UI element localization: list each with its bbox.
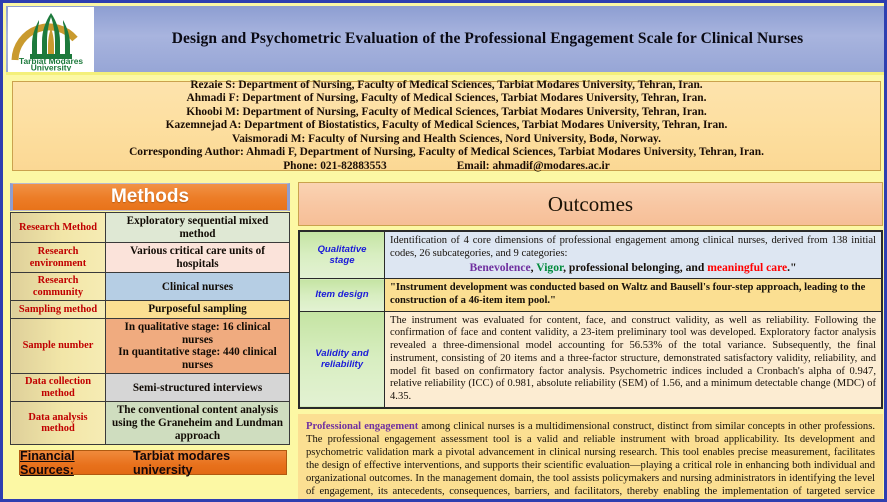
table-row: Sample number In qualitative stage: 16 c… <box>11 319 290 374</box>
methods-value: Exploratory sequential mixed method <box>106 213 290 243</box>
dimension-professional-belonging: , professional belonging, and <box>563 261 707 274</box>
outcomes-qualitative-stage-body: Identification of 4 core dimensions of p… <box>385 231 883 279</box>
methods-value: Purposeful sampling <box>106 301 290 319</box>
svg-text:University: University <box>31 62 72 71</box>
methods-label: Research Method <box>11 213 106 243</box>
core-dimensions-line: Benevolence, Vigor, professional belongi… <box>390 261 876 275</box>
poster-root: Tarbiat Modares University Design and Ps… <box>0 0 887 502</box>
author-line: Ahmadi F: Department of Nursing, Faculty… <box>187 92 707 105</box>
outcomes-label: Validity and reliability <box>299 311 385 407</box>
outcomes-section-title: Outcomes <box>298 182 883 226</box>
methods-value: Clinical nurses <box>106 273 290 301</box>
dimension-vigor: Vigor <box>536 261 563 274</box>
methods-label: Data analysis method <box>11 402 106 445</box>
phone-text: Phone: 021-82883553 <box>283 160 386 173</box>
table-row: Research community Clinical nurses <box>11 273 290 301</box>
table-row: Research Method Exploratory sequential m… <box>11 213 290 243</box>
methods-section-title: Methods <box>10 183 290 211</box>
table-row: Data analysis method The conventional co… <box>11 402 290 445</box>
email-text: Email: ahmadif@modares.ac.ir <box>457 160 610 173</box>
author-line: Vaismoradi M: Faculty of Nursing and Hea… <box>232 133 661 146</box>
methods-label: Research community <box>11 273 106 301</box>
outcomes-table: Qualitative stage Identification of 4 co… <box>298 230 883 409</box>
conclusion-lead-phrase: Professional engagement <box>306 421 418 432</box>
poster-header: Tarbiat Modares University Design and Ps… <box>6 6 887 75</box>
outcomes-validity-reliability-body: The instrument was evaluated for content… <box>385 311 883 407</box>
methods-label: Data collection method <box>11 374 106 402</box>
methods-label: Research environment <box>11 243 106 273</box>
financial-sources-value: Tarbiat modares university <box>133 449 286 477</box>
table-row: Sampling method Purposeful sampling <box>11 301 290 319</box>
table-row: Research environment Various critical ca… <box>11 243 290 273</box>
outcomes-column: Outcomes Qualitative stage Identificatio… <box>298 182 883 502</box>
table-row: Qualitative stage Identification of 4 co… <box>299 231 882 279</box>
financial-sources-label: Financial Sources: <box>20 449 127 477</box>
table-row: Item design "Instrument development was … <box>299 279 882 311</box>
table-row: Data collection method Semi-structured i… <box>11 374 290 402</box>
outcomes-label: Item design <box>299 279 385 311</box>
author-line: Rezaie S: Department of Nursing, Faculty… <box>190 79 702 92</box>
methods-value: Various critical care units of hospitals <box>106 243 290 273</box>
methods-label: Sampling method <box>11 301 106 319</box>
outcomes-item-design-body: "Instrument development was conducted ba… <box>385 279 883 311</box>
tarbiat-modares-logo-icon: Tarbiat Modares University <box>9 8 93 71</box>
author-line: Kazemnejad A: Department of Biostatistic… <box>166 119 728 132</box>
authors-block: Rezaie S: Department of Nursing, Faculty… <box>12 81 881 171</box>
methods-label: Sample number <box>11 319 106 374</box>
methods-table: Research Method Exploratory sequential m… <box>10 212 290 445</box>
qualitative-stage-text: Identification of 4 core dimensions of p… <box>390 235 876 260</box>
conclusion-text: among clinical nurses is a multidimensio… <box>306 421 875 502</box>
conclusion-block: Professional engagement among clinical n… <box>298 414 883 502</box>
corresponding-author-line: Corresponding Author: Ahmadi F, Departme… <box>129 146 764 159</box>
author-line: Khoobi M: Department of Nursing, Faculty… <box>186 106 707 119</box>
financial-sources-bar: Financial Sources: Tarbiat modares unive… <box>19 450 287 475</box>
highlight-tail: ." <box>787 261 796 274</box>
dimension-benevolence: Benevolence <box>469 261 530 274</box>
outcomes-label: Qualitative stage <box>299 231 385 279</box>
table-row: Validity and reliability The instrument … <box>299 311 882 407</box>
page-title: Design and Psychometric Evaluation of th… <box>94 30 887 48</box>
contact-line: Phone: 021-82883553 Email: ahmadif@modar… <box>283 160 610 173</box>
methods-column: Methods Research Method Exploratory sequ… <box>10 183 290 475</box>
methods-value: In qualitative stage: 16 clinical nurses… <box>106 319 290 374</box>
university-logo: Tarbiat Modares University <box>8 7 94 72</box>
dimension-meaningful-care: meaningful care <box>707 261 787 274</box>
methods-value: The conventional content analysis using … <box>106 402 290 445</box>
methods-value: Semi-structured interviews <box>106 374 290 402</box>
